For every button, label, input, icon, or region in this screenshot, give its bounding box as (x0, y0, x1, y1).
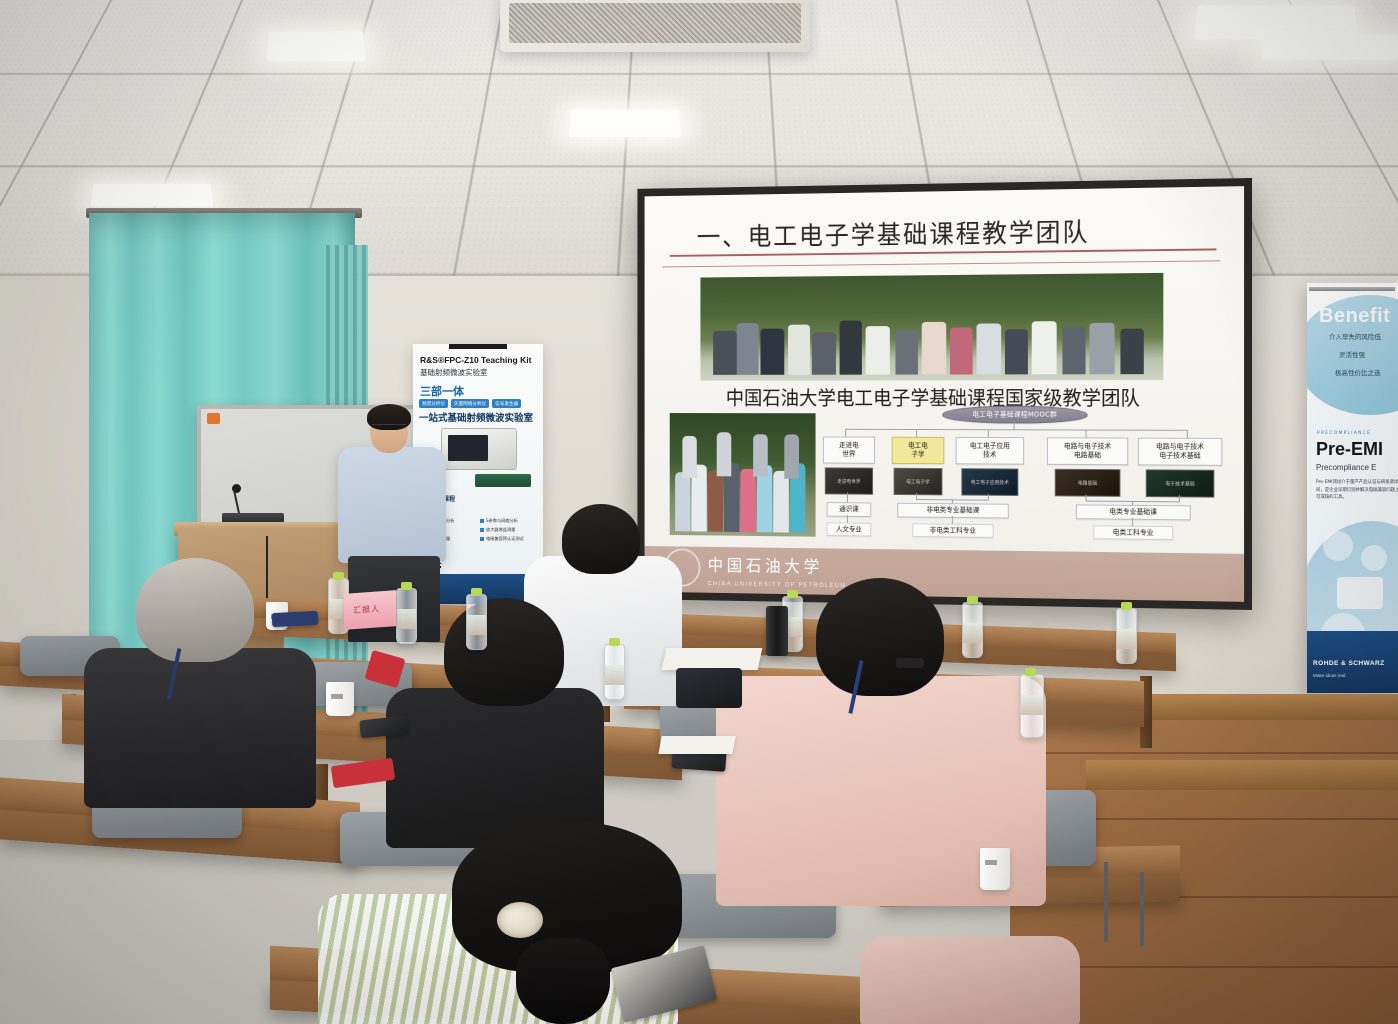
instrument-screen (448, 435, 488, 461)
magnet-icon (207, 413, 220, 424)
water-bottle[interactable] (1020, 674, 1044, 738)
connector (988, 429, 989, 437)
bottle-label (397, 609, 416, 629)
connector (1132, 518, 1133, 526)
bottle-cap (401, 582, 412, 590)
chair-leg (1104, 862, 1108, 942)
bottle-cap (471, 588, 482, 596)
presentation-slide: 一、电工电子学基础课程教学团队 (645, 186, 1244, 602)
list-item: S参数与网络分析 (480, 518, 537, 524)
connector (845, 429, 1187, 431)
presenter-shirt (338, 447, 446, 563)
thermos-tumbler[interactable] (766, 606, 788, 656)
bullet-icon (480, 528, 484, 532)
category-box: 通识课 (827, 502, 872, 517)
team-group-photo (670, 413, 816, 537)
banner-subtitle: 基础射频微波实验室 (420, 367, 488, 378)
banner-hero-point: 介入早失的风险低 (1329, 331, 1381, 341)
air-conditioner-unit (500, 0, 810, 52)
audience-hair (562, 504, 640, 574)
banner-top-bar (449, 344, 507, 349)
mooc-diagram: 电工电子基础课程MOOC群 走进电 世界 电工电 子学 电工电子应用 技术 电路… (823, 406, 1222, 552)
water-bottle[interactable] (962, 602, 983, 658)
paper-cup[interactable] (980, 848, 1010, 890)
bullet-icon (480, 519, 484, 523)
water-bottle[interactable] (396, 588, 417, 644)
audience-body (860, 936, 1080, 1024)
connector (1014, 421, 1015, 429)
lecture-hall-photo: 一、电工电子学基础课程教学团队 (0, 0, 1398, 1024)
ceiling-light-panel (267, 31, 365, 61)
list-item-label: S参数与网络分析 (486, 518, 518, 524)
diagram-header-box: 电工电子基础课程MOOC群 (942, 406, 1087, 424)
bottle-label (1021, 695, 1043, 715)
screen-surface: 一、电工电子学基础课程教学团队 (645, 186, 1244, 602)
slide-heading: 一、电工电子学基础课程教学团队 (697, 212, 1090, 253)
projection-screen: 一、电工电子学基础课程教学团队 (637, 178, 1252, 610)
ac-grille (509, 3, 801, 43)
bottle-cap (1121, 602, 1132, 610)
list-item: 放大器增益测量 (480, 527, 537, 533)
bottle-cap (787, 590, 798, 598)
connector (952, 516, 953, 524)
smartphone[interactable] (272, 611, 319, 627)
bottle-label (605, 665, 624, 685)
bottle-cap (609, 638, 620, 646)
tablet-illustration (1337, 577, 1383, 609)
category-box: 非电类专业基础课 (897, 503, 1008, 519)
water-bottle[interactable] (1116, 608, 1137, 664)
banner-pill: 信号发生器 (492, 399, 521, 408)
ceiling-light-panel (569, 110, 681, 137)
platform-step (1086, 760, 1398, 790)
chair-leg (1140, 872, 1144, 946)
major-box: 人文专业 (827, 522, 872, 536)
connector (847, 493, 848, 503)
course-box: 电路与电子技术 电路基础 (1047, 437, 1128, 465)
brand-tagline: Make ideas real (1313, 673, 1345, 678)
course-thumbnail: 电工电子学 (894, 468, 943, 496)
major-box: 电类工科专业 (1093, 525, 1173, 540)
course-thumbnail: 走进电世界 (825, 467, 873, 494)
banner-kicker: PRECOMPLIANCE (1317, 431, 1371, 436)
bottle-cap (1025, 668, 1036, 676)
banner-body-text: Pre-EMI测试介于量产产品认证与研发调试之间，是企业早期识别并解决电磁兼容问… (1316, 479, 1398, 502)
list-item-label: 放大器增益测量 (486, 527, 515, 533)
course-box: 电路与电子技术 电子技术基础 (1138, 438, 1222, 466)
major-box: 非电类工科专业 (912, 523, 993, 538)
banner-pill: 频谱分析仪 (419, 399, 448, 408)
list-item: 电磁兼容预认证测试 (480, 536, 537, 542)
banner-rail (1309, 287, 1395, 291)
ponytail (516, 938, 610, 1024)
banner-title: R&S®FPC-Z10 Teaching Kit (420, 355, 531, 365)
water-bottle[interactable] (604, 644, 625, 700)
name-card-text: 汇报人 (353, 603, 380, 616)
course-thumbnail: 电子技术基础 (1146, 469, 1215, 497)
paper-sheet[interactable] (662, 648, 763, 670)
banner-pill-group: 频谱分析仪 矢量网络分析仪 信号发生器 (419, 399, 521, 408)
spectrum-analyzer-illustration (441, 428, 517, 470)
audience-body (84, 648, 316, 808)
brand-name: ROHDE & SCHWARZ (1313, 660, 1385, 667)
connector (1187, 430, 1188, 438)
paper-cup[interactable] (326, 682, 354, 716)
water-bottle[interactable] (466, 594, 487, 650)
paper-sheet[interactable] (658, 736, 735, 754)
bottle-label (1117, 629, 1136, 649)
audience-hair (816, 578, 944, 696)
name-card: 汇报人 (344, 590, 396, 630)
course-box: 电工电子应用 技术 (956, 437, 1024, 465)
eyeglasses-icon (372, 424, 406, 432)
banner-hero-point: 灵活性强 (1339, 349, 1365, 359)
bullet-icon (480, 537, 484, 541)
audience-hair (136, 558, 254, 662)
banner-hero-point: 极高性价比之选 (1335, 367, 1381, 377)
connector (847, 515, 848, 523)
university-name-en: CHINA UNIVERSITY OF PETROLEUM (708, 581, 847, 589)
banner-tagline: 一站式基础射频微波实验室 (419, 410, 533, 424)
course-box: 走进电 世界 (823, 436, 875, 463)
ceiling-light-panel (1261, 35, 1398, 59)
category-box: 电类专业基础课 (1076, 504, 1191, 520)
connector (1086, 430, 1087, 438)
bag[interactable] (676, 668, 742, 708)
team-outdoor-photo (700, 273, 1163, 381)
bottle-cap (967, 596, 978, 604)
banner-hero-title: Benefit (1319, 305, 1390, 328)
university-name-cn: 中国石油大学 (708, 552, 823, 578)
bottle-label (963, 623, 982, 643)
cup-logo (331, 694, 343, 699)
list-item-label: 电磁兼容预认证测试 (486, 536, 524, 542)
bottle-label (467, 615, 486, 635)
connector (916, 429, 917, 437)
course-box-highlighted: 电工电 子学 (892, 437, 945, 464)
audience-hair (444, 598, 564, 706)
course-thumbnail: 电工电子应用技术 (961, 468, 1018, 496)
cup-logo (985, 860, 997, 865)
connector (845, 429, 846, 437)
banner-footer: ROHDE & SCHWARZ Make ideas real (1307, 631, 1398, 693)
hair-scrunchie (497, 902, 543, 938)
bottle-cap (333, 572, 344, 580)
course-thumbnail: 电路基础 (1055, 469, 1121, 497)
banner-subtitle: Precompliance E (1316, 463, 1376, 472)
circuit-board-illustration (475, 474, 531, 487)
eyeglasses-icon (896, 658, 924, 668)
decorative-circle (1361, 545, 1387, 571)
rollup-banner-pre-emi: Benefit 介入早失的风险低 灵活性强 极高性价比之选 PRECOMPLIA… (1307, 283, 1398, 693)
ceiling-light-panel (91, 184, 213, 207)
decorative-circle (1323, 531, 1353, 561)
title-rule-secondary (663, 260, 1221, 267)
banner-headline: 三部一体 (420, 383, 464, 399)
banner-title: Pre-EMI (1316, 439, 1383, 460)
banner-pill: 矢量网络分析仪 (451, 399, 489, 408)
slide-footer: 中国石油大学 CHINA UNIVERSITY OF PETROLEUM (645, 546, 1244, 602)
